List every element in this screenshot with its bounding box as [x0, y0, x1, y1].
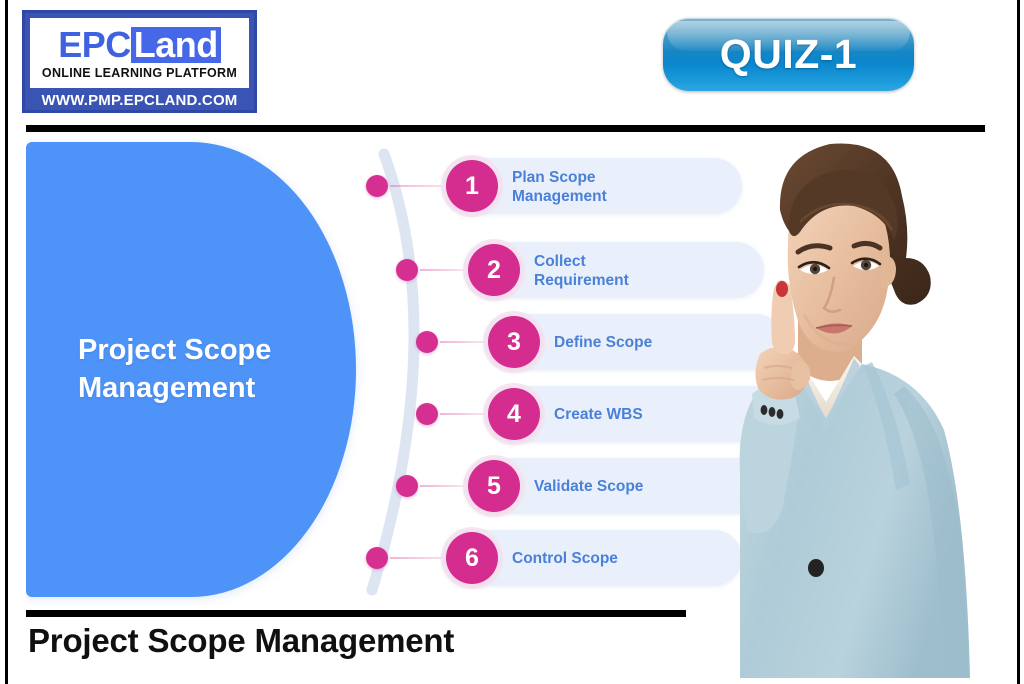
- step-label-4: Create WBS: [554, 405, 643, 424]
- step-number-3: 3: [488, 316, 540, 368]
- step-item-2[interactable]: 2 Collect Requirement: [344, 242, 964, 298]
- logo-tagline: ONLINE LEARNING PLATFORM: [42, 66, 237, 80]
- scope-panel: Project Scope Management: [26, 142, 356, 597]
- step-label-1-line2: Management: [512, 187, 607, 206]
- step-label-4-line1: Create WBS: [554, 405, 643, 424]
- step-number-6: 6: [446, 532, 498, 584]
- quiz-badge-label: QUIZ-1: [720, 31, 857, 78]
- step-number-1: 1: [446, 160, 498, 212]
- step-dot-4: [416, 403, 438, 425]
- step-connector-5: [420, 485, 468, 487]
- step-connector-2: [420, 269, 468, 271]
- step-label-5: Validate Scope: [534, 477, 643, 496]
- step-connector-3: [440, 341, 488, 343]
- step-label-2: Collect Requirement: [534, 252, 629, 290]
- logo-text-epc: EPC: [58, 27, 131, 63]
- step-label-5-line1: Validate Scope: [534, 477, 643, 496]
- step-dot-1: [366, 175, 388, 197]
- step-item-6[interactable]: 6 Control Scope: [344, 530, 964, 586]
- left-border-rule: [5, 0, 8, 684]
- step-label-1-line1: Plan Scope: [512, 168, 607, 187]
- diagram-card: Project Scope Management 1 Plan Scope Ma…: [26, 138, 985, 606]
- scope-panel-title-line2: Management: [78, 370, 288, 408]
- step-list: 1 Plan Scope Management 2 Collect Requir…: [344, 146, 984, 598]
- logo-website-url: WWW.PMP.EPCLAND.COM: [30, 88, 249, 114]
- quiz-badge-button[interactable]: QUIZ-1: [663, 18, 914, 91]
- scope-panel-title: Project Scope Management: [78, 332, 288, 407]
- step-dot-3: [416, 331, 438, 353]
- step-label-3: Define Scope: [554, 333, 652, 352]
- step-item-4[interactable]: 4 Create WBS: [344, 386, 964, 442]
- scope-panel-title-line1: Project Scope: [78, 332, 288, 370]
- logo-text-land: Land: [131, 27, 221, 63]
- step-label-6: Control Scope: [512, 549, 618, 568]
- epcland-logo[interactable]: EPC Land ONLINE LEARNING PLATFORM WWW.PM…: [22, 10, 257, 113]
- logo-wordmark: EPC Land: [58, 27, 221, 63]
- page-caption-title: Project Scope Management: [28, 622, 454, 660]
- top-divider-rule: [26, 125, 985, 132]
- step-dot-5: [396, 475, 418, 497]
- right-border-rule: [1017, 0, 1020, 684]
- poster-canvas: EPC Land ONLINE LEARNING PLATFORM WWW.PM…: [0, 0, 1024, 684]
- step-label-3-line1: Define Scope: [554, 333, 652, 352]
- step-item-1[interactable]: 1 Plan Scope Management: [344, 158, 964, 214]
- step-item-5[interactable]: 5 Validate Scope: [344, 458, 964, 514]
- step-number-2: 2: [468, 244, 520, 296]
- step-label-2-line1: Collect: [534, 252, 629, 271]
- step-number-4: 4: [488, 388, 540, 440]
- step-number-5: 5: [468, 460, 520, 512]
- step-label-1: Plan Scope Management: [512, 168, 607, 206]
- step-dot-2: [396, 259, 418, 281]
- bottom-divider-rule: [26, 610, 686, 617]
- step-dot-6: [366, 547, 388, 569]
- step-label-6-line1: Control Scope: [512, 549, 618, 568]
- step-item-3[interactable]: 3 Define Scope: [344, 314, 964, 370]
- logo-inner-panel: EPC Land ONLINE LEARNING PLATFORM: [30, 18, 249, 88]
- step-connector-4: [440, 413, 488, 415]
- step-label-2-line2: Requirement: [534, 271, 629, 290]
